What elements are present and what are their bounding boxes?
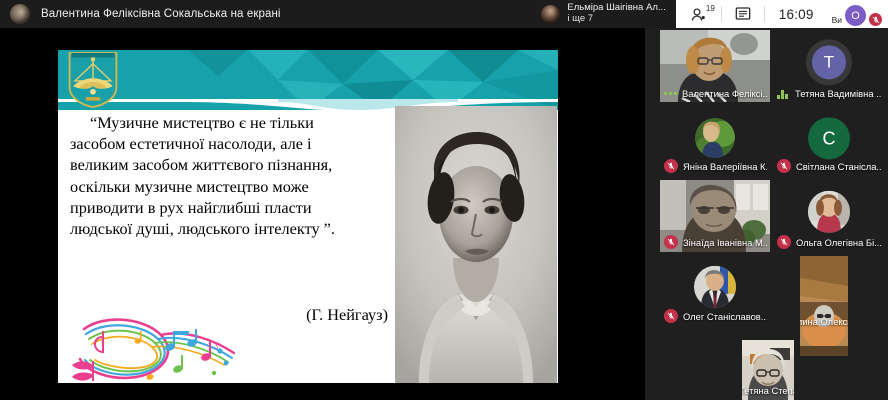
participants-count: 19 — [706, 4, 715, 13]
active-speaker-chip[interactable]: Ельміра Шаігівна Ал... і ще 7 — [535, 0, 675, 28]
participant-label: Ольга Олегівна Бі... — [777, 235, 882, 249]
slide-header-band — [58, 50, 558, 110]
participant-tile[interactable]: Яніна Валеріївна К... — [660, 108, 770, 176]
participant-label: Яніна Валеріївна К... — [664, 159, 767, 173]
you-block[interactable]: Ви О — [830, 0, 888, 28]
participant-label: Тетяна Степанівна... — [742, 383, 794, 397]
participant-label: Світлана Станісла... — [777, 159, 882, 173]
you-label: Ви — [832, 15, 842, 28]
participant-label: Тетяна Вадимівна ... — [777, 88, 882, 99]
mic-off-icon — [872, 16, 880, 24]
avatar: C — [806, 115, 852, 161]
avatar-initial: C — [808, 117, 850, 159]
participant-name: Світлана Станісла... — [796, 161, 882, 172]
participant-tile[interactable]: C Світлана Станісла... — [773, 108, 885, 176]
participant-name: Олег Станіславов... — [683, 311, 767, 322]
presenter-title: Валентина Феліксівна Сокальська на екран… — [41, 8, 281, 20]
participant-tile[interactable]: Галина Олександр... — [800, 256, 848, 356]
avatar: T — [806, 39, 852, 85]
avatar-photo — [808, 191, 850, 233]
participant-name: Тетяна Вадимівна ... — [795, 88, 882, 99]
participant-tile[interactable]: Зінаїда Іванівна М... — [660, 180, 770, 252]
top-bar: Валентина Феліксівна Сокальська на екран… — [0, 0, 888, 28]
portrait-illustration — [395, 106, 557, 383]
academy-emblem-icon — [66, 51, 120, 109]
participants-button[interactable]: 19 — [678, 0, 721, 28]
meeting-controls: 19 16:09 — [676, 0, 830, 28]
participant-tile[interactable]: Олег Станіславов... — [660, 256, 770, 326]
presenter-avatar — [10, 4, 30, 24]
mic-off-icon — [777, 159, 791, 173]
mic-off-icon — [664, 235, 678, 249]
meeting-time: 16:09 — [765, 7, 828, 22]
mic-off-badge[interactable] — [869, 13, 882, 26]
participant-name: Валентина Феліксі... — [682, 88, 767, 99]
avatar-initial: T — [812, 45, 846, 79]
audio-bars-icon — [777, 89, 790, 99]
participant-name: Ольга Олегівна Бі... — [796, 237, 882, 248]
avatar — [695, 118, 735, 158]
active-speaker-avatar — [541, 5, 560, 24]
avatar — [808, 191, 850, 233]
vintage-portrait-photo — [395, 106, 557, 383]
presentation-slide: “Музичне мистецтво є не тільки засобом е… — [58, 50, 558, 383]
shared-content-stage[interactable]: “Музичне мистецтво є не тільки засобом е… — [0, 28, 645, 400]
avatar — [694, 266, 736, 308]
mic-off-icon — [664, 309, 678, 323]
participant-tile[interactable]: T Тетяна Вадимівна ... — [773, 30, 885, 102]
chat-icon — [735, 6, 751, 22]
avatar-photo — [695, 118, 735, 158]
participant-label: Зінаїда Іванівна М... — [664, 235, 767, 249]
participant-tile[interactable]: Валентина Феліксі... — [660, 30, 770, 102]
participant-tile[interactable]: Тетяна Степанівна... — [742, 340, 794, 400]
participant-label: Галина Олександр... — [800, 314, 848, 328]
chat-button[interactable] — [722, 0, 764, 28]
mic-off-icon — [664, 159, 678, 173]
you-avatar: О — [845, 5, 866, 26]
avatar-photo — [694, 266, 736, 308]
top-bar-right: Ельміра Шаігівна Ал... і ще 7 19 — [535, 0, 888, 28]
participant-label: Валентина Феліксі... — [664, 88, 767, 99]
music-notes-swirl-icon — [66, 307, 286, 383]
meeting-window: Валентина Феліксівна Сокальська на екран… — [0, 0, 888, 400]
participant-name: Тетяна Степанівна... — [742, 385, 794, 396]
participant-name: Яніна Валеріївна К... — [683, 161, 767, 172]
active-speaker-more: і ще 7 — [567, 14, 665, 25]
participant-name: Галина Олександр... — [800, 316, 848, 327]
participant-label: Олег Станіславов... — [664, 309, 767, 323]
quote-block: “Музичне мистецтво є не тільки засобом е… — [70, 112, 370, 239]
participant-name: Зінаїда Іванівна М... — [683, 237, 767, 248]
mic-off-icon — [777, 235, 791, 249]
speaking-dots-icon — [664, 92, 677, 95]
quote-text: “Музичне мистецтво є не тільки засобом е… — [70, 112, 370, 239]
participant-rail[interactable]: Валентина Феліксі... T Тетяна Вадимівна … — [645, 28, 888, 400]
video-feed — [800, 256, 848, 356]
participant-tile[interactable]: Ольга Олегівна Бі... — [773, 180, 885, 252]
